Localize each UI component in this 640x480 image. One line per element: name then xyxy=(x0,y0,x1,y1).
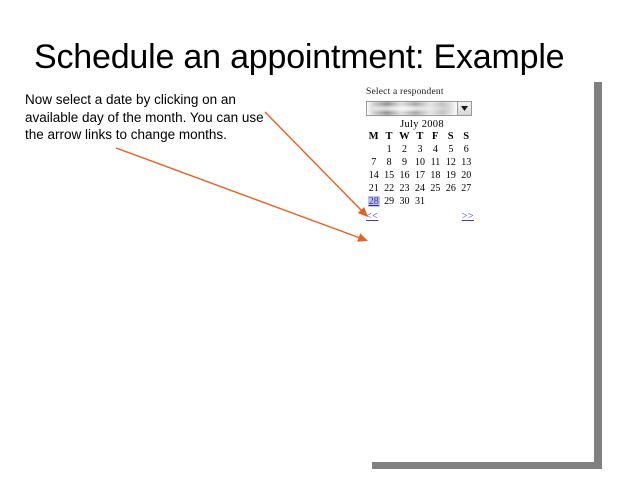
calendar-weekday-row: M T W T F S S xyxy=(366,131,474,143)
weekday-header: F xyxy=(428,131,443,143)
calendar-day-cell[interactable]: 12 xyxy=(443,156,458,169)
calendar-day-cell[interactable]: 21 xyxy=(366,182,381,195)
calendar-day-cell[interactable]: 14 xyxy=(366,169,381,182)
slide-canvas: Schedule an appointment: Example Now sel… xyxy=(0,0,640,480)
next-month-link[interactable]: >> xyxy=(462,211,474,222)
calendar-day-cell[interactable]: 9 xyxy=(397,156,412,169)
calendar-week-row: 7 8 9 10 11 12 13 xyxy=(366,156,474,169)
weekday-header: M xyxy=(366,131,381,143)
calendar-day-cell[interactable]: 13 xyxy=(459,156,474,169)
calendar-day-cell[interactable]: 3 xyxy=(412,143,427,156)
annotation-arrow-to-month-nav xyxy=(116,148,360,238)
weekday-header: T xyxy=(381,131,396,143)
calendar-day-cell[interactable]: 7 xyxy=(366,156,381,169)
weekday-header: T xyxy=(412,131,427,143)
calendar-day-cell[interactable]: 23 xyxy=(397,182,412,195)
calendar-day-cell xyxy=(443,195,458,208)
calendar-widget: Select a respondent July 2008 M T W T F … xyxy=(366,87,478,222)
slide-shadow-bottom xyxy=(372,462,602,469)
calendar-day-cell[interactable]: 22 xyxy=(381,182,396,195)
prev-month-link[interactable]: << xyxy=(366,211,378,222)
calendar-week-row: 1 2 3 4 5 6 xyxy=(366,143,474,156)
calendar-day-cell[interactable]: 1 xyxy=(381,143,396,156)
calendar-day-cell[interactable]: 27 xyxy=(459,182,474,195)
calendar-day-cell[interactable]: 15 xyxy=(381,169,396,182)
annotation-arrow-to-selected-day xyxy=(265,112,362,211)
calendar-day-cell[interactable]: 18 xyxy=(428,169,443,182)
calendar-day-cell[interactable]: 8 xyxy=(381,156,396,169)
calendar-day-cell[interactable]: 26 xyxy=(443,182,458,195)
calendar-day-cell[interactable]: 30 xyxy=(397,195,412,208)
calendar-day-cell xyxy=(366,143,381,156)
page-title: Schedule an appointment: Example xyxy=(34,36,614,78)
calendar-day-cell[interactable]: 11 xyxy=(428,156,443,169)
respondent-label: Select a respondent xyxy=(366,87,478,97)
calendar-day-cell[interactable]: 31 xyxy=(412,195,427,208)
calendar-week-row: 28 29 30 31 xyxy=(366,195,474,208)
calendar-date-grid: M T W T F S S 1 2 3 4 5 6 xyxy=(366,131,474,208)
respondent-selected-value xyxy=(367,102,457,115)
weekday-header: S xyxy=(459,131,474,143)
calendar-week-row: 14 15 16 17 18 19 20 xyxy=(366,169,474,182)
calendar-week-row: 21 22 23 24 25 26 27 xyxy=(366,182,474,195)
calendar-day-cell[interactable]: 6 xyxy=(459,143,474,156)
calendar-day-cell[interactable]: 24 xyxy=(412,182,427,195)
calendar-day-cell[interactable]: 20 xyxy=(459,169,474,182)
selected-day-label: 28 xyxy=(368,196,380,207)
calendar-day-cell[interactable]: 4 xyxy=(428,143,443,156)
calendar-day-cell xyxy=(459,195,474,208)
calendar-day-cell[interactable]: 2 xyxy=(397,143,412,156)
calendar-month-title: July 2008 xyxy=(366,119,478,130)
calendar-day-cell xyxy=(428,195,443,208)
calendar-day-cell[interactable]: 17 xyxy=(412,169,427,182)
respondent-select[interactable] xyxy=(366,101,472,116)
calendar-day-cell[interactable]: 29 xyxy=(381,195,396,208)
instruction-text: Now select a date by clicking on an avai… xyxy=(25,91,273,144)
chevron-down-icon[interactable] xyxy=(457,102,471,115)
weekday-header: S xyxy=(443,131,458,143)
calendar-day-cell[interactable]: 10 xyxy=(412,156,427,169)
calendar-day-cell-selected[interactable]: 28 xyxy=(366,195,381,208)
calendar-day-cell[interactable]: 25 xyxy=(428,182,443,195)
calendar-day-cell[interactable]: 19 xyxy=(443,169,458,182)
calendar-day-cell[interactable]: 16 xyxy=(397,169,412,182)
slide-shadow-right xyxy=(594,82,602,463)
calendar-navigation: << >> xyxy=(366,211,474,222)
calendar-day-cell[interactable]: 5 xyxy=(443,143,458,156)
weekday-header: W xyxy=(397,131,412,143)
